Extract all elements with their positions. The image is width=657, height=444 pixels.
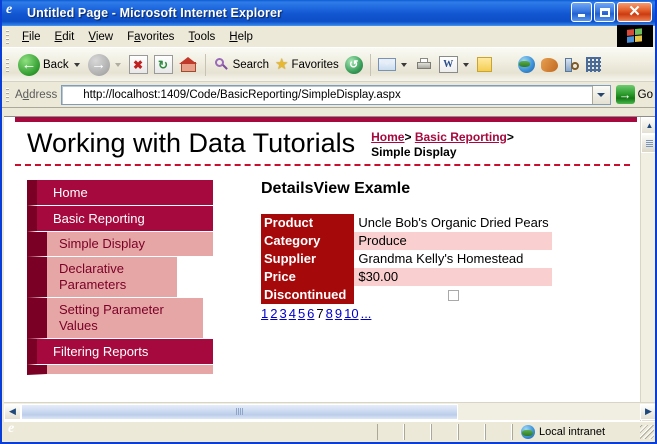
notes-button[interactable] — [474, 51, 495, 79]
back-arrow-icon: ← — [18, 54, 40, 76]
breadcrumb-current: Simple Display — [371, 145, 556, 160]
status-message-area — [4, 424, 377, 439]
status-cell-2 — [404, 424, 431, 440]
resize-grip[interactable] — [640, 425, 654, 439]
vertical-scroll-thumb[interactable] — [641, 134, 657, 153]
pager-page-6[interactable]: 6 — [307, 306, 314, 321]
sidebar-item-declarative-parameters[interactable]: Declarative Parameters — [27, 257, 177, 298]
section-heading: DetailsView Examle — [261, 180, 640, 198]
grid-icon — [586, 57, 601, 72]
history-button[interactable]: ↺ — [342, 51, 366, 79]
star-icon: ★ — [275, 57, 288, 72]
windows-flag-logo-icon — [617, 25, 653, 47]
favorites-button[interactable]: ★ Favorites — [272, 51, 342, 79]
breadcrumb-link-home[interactable]: Home — [371, 130, 404, 144]
pager-page-current: 7 — [316, 306, 323, 321]
row-label-category: Category — [261, 232, 354, 250]
sidebar-item-simple-display[interactable]: Simple Display — [27, 232, 213, 257]
menu-item-view[interactable]: View — [81, 29, 120, 45]
forward-button[interactable]: → — [85, 51, 126, 79]
pager-page-4[interactable]: 4 — [289, 306, 296, 321]
breadcrumb: Home> Basic Reporting> Simple Display — [371, 130, 556, 160]
note-icon — [477, 57, 492, 72]
fox-icon — [541, 58, 558, 72]
forward-arrow-icon: → — [88, 54, 110, 76]
toolbar-separator — [205, 54, 206, 76]
scroll-right-button[interactable]: ▶ — [640, 404, 657, 420]
status-zone-label: Local intranet — [539, 426, 605, 438]
menu-item-help[interactable]: Help — [222, 29, 260, 45]
page-content: Working with Data Tutorials Home> Basic … — [4, 117, 640, 405]
row-label-discontinued: Discontinued — [261, 286, 354, 304]
research-button[interactable] — [561, 51, 583, 79]
address-gripper[interactable] — [4, 87, 11, 102]
mail-dropdown-icon[interactable] — [401, 63, 407, 67]
address-label: Address — [15, 89, 57, 101]
horizontal-scrollbar[interactable]: ◀ ▶ — [4, 402, 657, 420]
toolbar-separator-2 — [370, 54, 371, 76]
mail-icon — [378, 58, 396, 71]
refresh-button[interactable]: ↻ — [151, 51, 176, 79]
main-content: DetailsView Examle Product Uncle Bob's O… — [243, 180, 640, 375]
mail-button[interactable] — [375, 51, 412, 79]
menu-item-file[interactable]: File — [15, 29, 48, 45]
toolbar-spacer — [499, 54, 511, 76]
status-cell-4 — [458, 424, 485, 440]
row-value-supplier: Grandma Kelly's Homestead — [354, 250, 551, 268]
go-arrow-icon: → — [616, 85, 635, 104]
refresh-icon: ↻ — [154, 55, 173, 74]
maximize-button[interactable] — [594, 2, 615, 22]
pager-page-3[interactable]: 3 — [279, 306, 286, 321]
research-icon — [564, 57, 580, 73]
status-cell-1 — [377, 424, 404, 440]
sidebar-item-filtering-reports[interactable]: Filtering Reports — [27, 339, 213, 365]
misc-button[interactable] — [583, 51, 604, 79]
print-button[interactable] — [412, 51, 436, 79]
navigation-toolbar: ← Back → ✖ ↻ Search ★ — [2, 48, 655, 82]
edit-dropdown-icon[interactable] — [463, 63, 469, 67]
page-body: Home Basic Reporting Simple Display Decl… — [5, 166, 640, 375]
row-value-product: Uncle Bob's Organic Dried Pears — [354, 214, 551, 232]
browser-window: Untitled Page - Microsoft Internet Explo… — [0, 0, 657, 444]
search-button[interactable]: Search — [210, 51, 272, 79]
table-row: Product Uncle Bob's Organic Dried Pears — [261, 214, 552, 232]
sidebar-item-basic-reporting[interactable]: Basic Reporting — [27, 206, 213, 232]
status-bar: Local intranet — [4, 421, 657, 441]
menu-item-favorites[interactable]: Favorites — [120, 29, 181, 45]
home-button[interactable] — [176, 51, 201, 79]
pager-page-2[interactable]: 2 — [270, 306, 277, 321]
row-label-supplier: Supplier — [261, 250, 354, 268]
close-button[interactable]: ✕ — [617, 2, 652, 22]
edit-button[interactable]: W — [436, 51, 474, 79]
page-icon — [64, 87, 80, 103]
ie-logo-icon — [6, 5, 22, 21]
address-dropdown-button[interactable] — [592, 86, 610, 104]
pager: 12345678910... — [261, 306, 640, 321]
breadcrumb-link-section[interactable]: Basic Reporting — [415, 130, 507, 144]
minimize-button[interactable] — [571, 2, 592, 22]
window-title: Untitled Page - Microsoft Internet Explo… — [27, 6, 282, 20]
menu-item-edit[interactable]: Edit — [48, 29, 82, 45]
home-icon — [179, 56, 198, 73]
status-zone-cell: Local intranet — [512, 424, 657, 440]
menu-item-tools[interactable]: Tools — [181, 29, 222, 45]
window-controls: ✕ — [571, 2, 652, 22]
table-row: Supplier Grandma Kelly's Homestead — [261, 250, 552, 268]
sidebar-item-home[interactable]: Home — [27, 180, 213, 206]
page-title: Working with Data Tutorials — [27, 126, 355, 160]
back-button[interactable]: ← Back — [15, 51, 85, 79]
scroll-left-button[interactable]: ◀ — [4, 404, 21, 420]
breadcrumb-sep-1: > — [404, 130, 411, 144]
row-label-price: Price — [261, 268, 354, 286]
discontinued-checkbox[interactable] — [448, 290, 459, 301]
search-icon — [213, 56, 230, 73]
row-value-category: Produce — [354, 232, 551, 250]
scroll-up-button[interactable]: ▲ — [641, 117, 657, 134]
table-row: Discontinued — [261, 286, 552, 304]
table-row: Price $30.00 — [261, 268, 552, 286]
pager-page-10[interactable]: 10 — [344, 306, 358, 321]
details-view-table: Product Uncle Bob's Organic Dried Pears … — [261, 214, 552, 304]
menu-gripper[interactable] — [4, 29, 11, 44]
table-row: Category Produce — [261, 232, 552, 250]
back-dropdown-icon[interactable] — [74, 63, 80, 67]
toolbar-gripper[interactable] — [4, 57, 11, 72]
pager-page-5[interactable]: 5 — [298, 306, 305, 321]
page-header: Working with Data Tutorials Home> Basic … — [15, 122, 630, 166]
stop-button[interactable]: ✖ — [126, 51, 151, 79]
pager-page-8[interactable]: 8 — [326, 306, 333, 321]
printer-icon — [415, 57, 433, 72]
row-value-discontinued — [354, 286, 551, 304]
go-button[interactable]: → Go — [616, 85, 653, 104]
status-page-icon — [8, 424, 23, 439]
word-icon: W — [439, 56, 458, 73]
pager-page-1[interactable]: 1 — [261, 306, 268, 321]
row-value-price: $30.00 — [354, 268, 551, 286]
messenger-button[interactable] — [538, 51, 561, 79]
history-icon: ↺ — [345, 56, 363, 74]
row-label-product: Product — [261, 214, 354, 232]
horizontal-scroll-thumb[interactable] — [21, 404, 458, 420]
stop-icon: ✖ — [129, 55, 148, 74]
menu-bar: File Edit View Favorites Tools Help — [2, 26, 655, 48]
address-bar: Address http://localhost:1409/Code/Basic… — [2, 82, 655, 108]
sidebar-item-setting-parameter-values[interactable]: Setting Parameter Values — [27, 298, 203, 339]
pager-page-9[interactable]: 9 — [335, 306, 342, 321]
address-input[interactable]: http://localhost:1409/Code/BasicReportin… — [61, 85, 610, 105]
address-url-text: http://localhost:1409/Code/BasicReportin… — [83, 89, 591, 101]
breadcrumb-sep-2: > — [507, 130, 514, 144]
horizontal-scroll-track[interactable] — [21, 404, 640, 420]
close-icon: ✕ — [628, 5, 641, 19]
sidebar-nav: Home Basic Reporting Simple Display Decl… — [5, 180, 243, 375]
status-cell-3 — [431, 424, 458, 440]
page-viewport: Working with Data Tutorials Home> Basic … — [4, 116, 657, 422]
globe-icon — [518, 56, 535, 73]
forward-dropdown-icon — [115, 63, 121, 67]
pager-next-ellipsis[interactable]: ... — [361, 306, 372, 321]
title-bar: Untitled Page - Microsoft Internet Explo… — [2, 0, 655, 26]
status-cell-5 — [485, 424, 512, 440]
vertical-scrollbar[interactable]: ▲ ▼ — [640, 117, 657, 422]
sidebar-item-partial[interactable] — [27, 365, 213, 375]
globe-icon — [521, 425, 535, 439]
globe-button[interactable] — [515, 51, 538, 79]
